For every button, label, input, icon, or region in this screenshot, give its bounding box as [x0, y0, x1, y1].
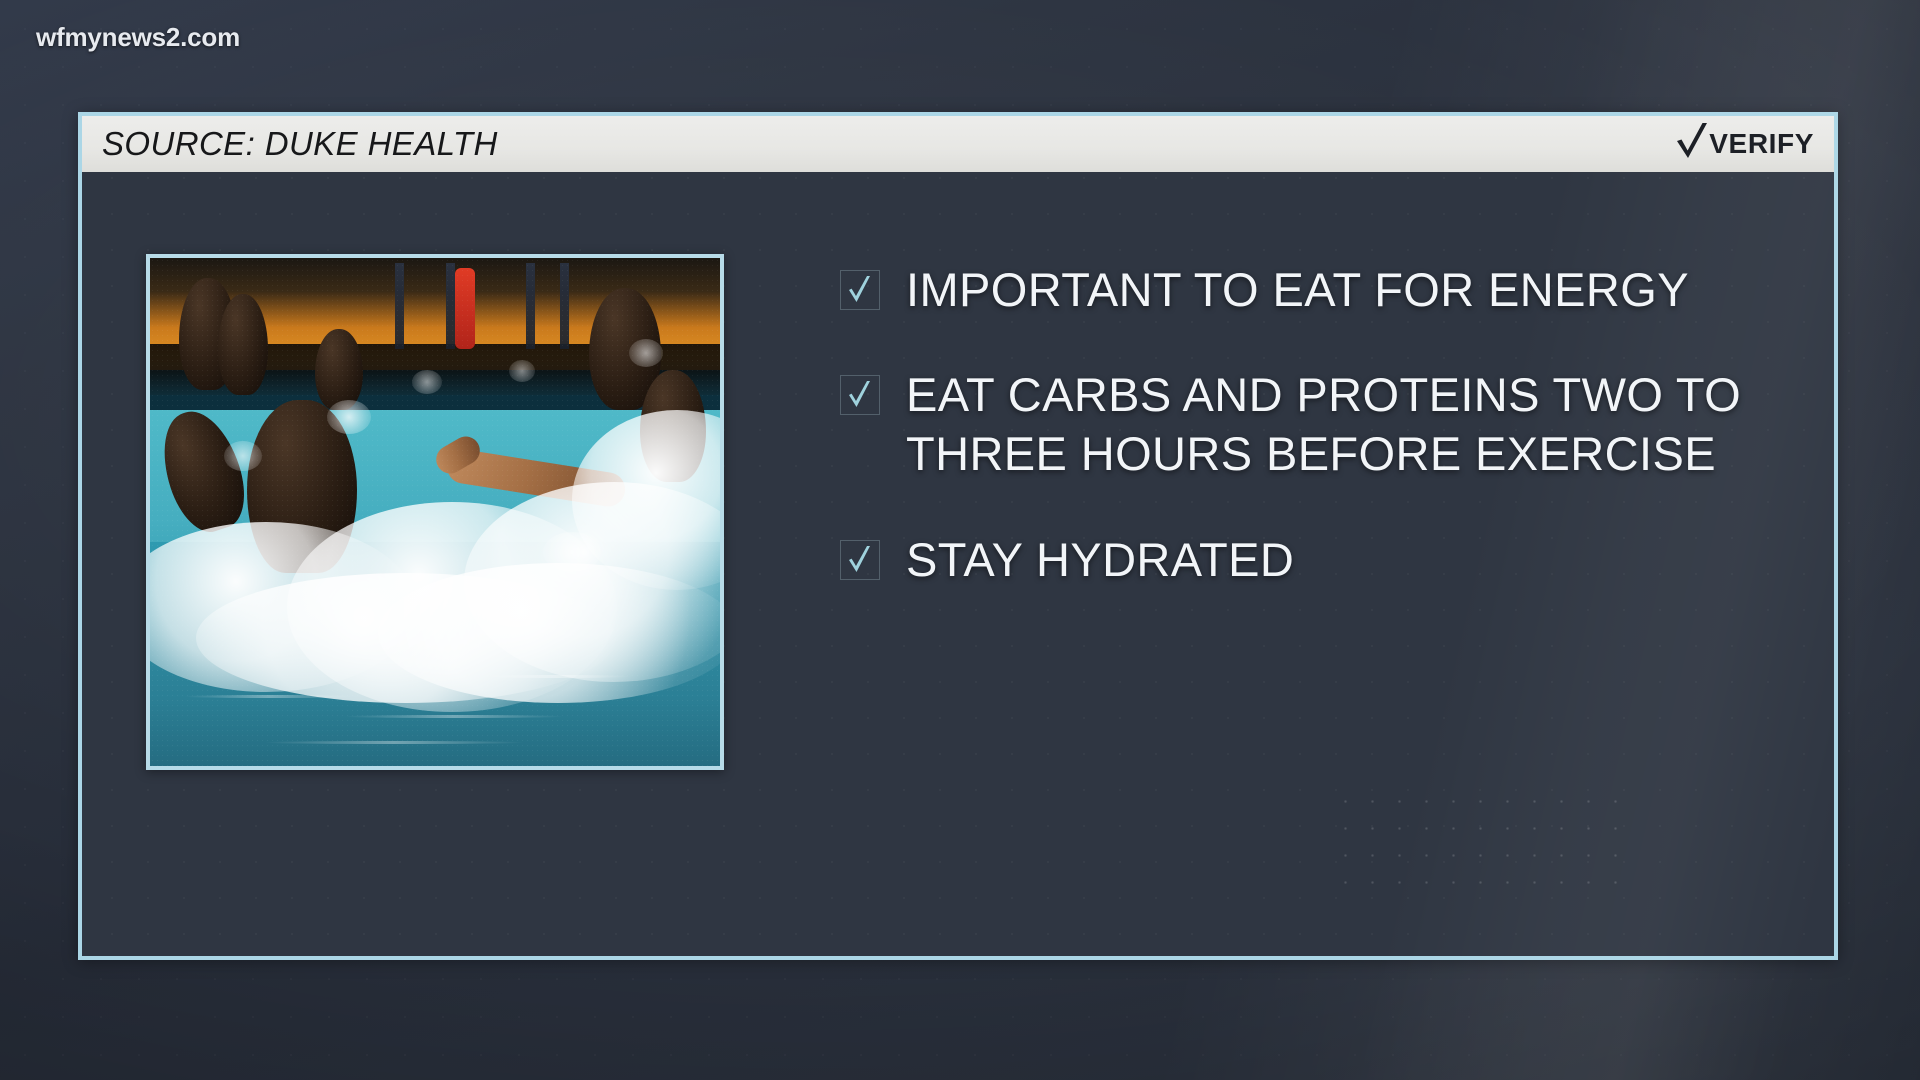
list-item-label: STAY HYDRATED — [906, 530, 1294, 589]
verify-brand-logo: VERIFY — [1673, 120, 1820, 169]
check-mark-icon — [1673, 120, 1713, 169]
source-attribution-label: SOURCE: DUKE HEALTH — [102, 125, 498, 163]
verify-wordmark: VERIFY — [1709, 128, 1814, 160]
broadcast-graphic-stage: wfmynews2.com SOURCE: DUKE HEALTH VERIFY — [0, 0, 1920, 1080]
station-watermark: wfmynews2.com — [36, 22, 240, 53]
list-item: EAT CARBS AND PROTEINS TWO TO THREE HOUR… — [840, 365, 1794, 483]
list-item: IMPORTANT TO EAT FOR ENERGY — [840, 260, 1794, 319]
pool-photo — [150, 258, 720, 766]
list-item-label: EAT CARBS AND PROTEINS TWO TO THREE HOUR… — [906, 365, 1794, 483]
pool-photo-frame — [146, 254, 724, 770]
tips-bullet-list: IMPORTANT TO EAT FOR ENERGY EAT CARBS AN… — [840, 260, 1794, 589]
info-panel: SOURCE: DUKE HEALTH VERIFY — [78, 112, 1838, 960]
check-mark-icon — [840, 375, 880, 415]
check-mark-icon — [840, 270, 880, 310]
check-mark-icon — [840, 540, 880, 580]
panel-content: IMPORTANT TO EAT FOR ENERGY EAT CARBS AN… — [82, 172, 1834, 956]
list-item-label: IMPORTANT TO EAT FOR ENERGY — [906, 260, 1689, 319]
photo-grain-overlay — [150, 258, 720, 766]
panel-header-bar: SOURCE: DUKE HEALTH VERIFY — [82, 116, 1834, 172]
list-item: STAY HYDRATED — [840, 530, 1794, 589]
